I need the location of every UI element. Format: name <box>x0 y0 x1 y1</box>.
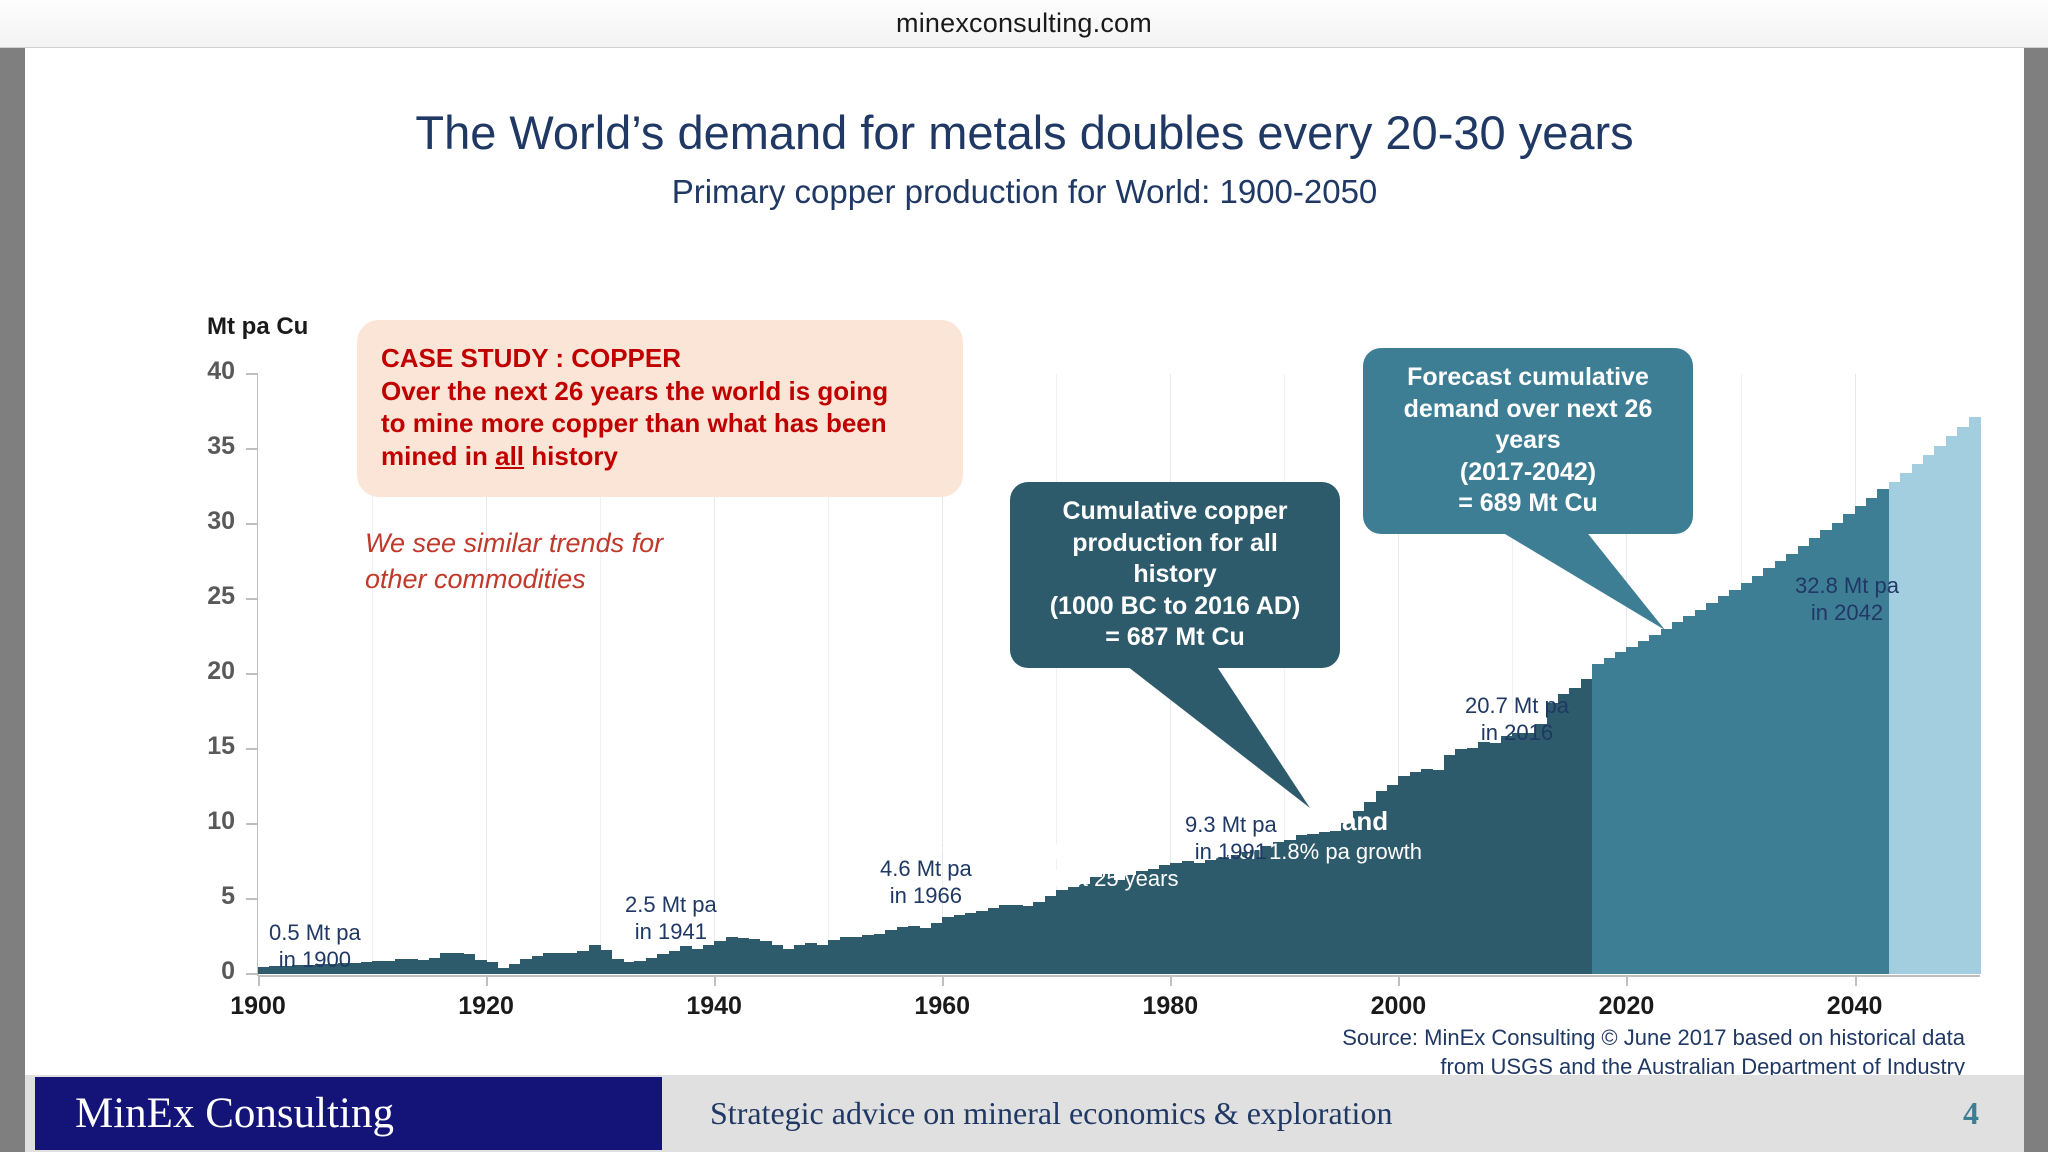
page-title: The World’s demand for metals doubles ev… <box>25 105 2024 160</box>
bar <box>452 953 464 974</box>
bar <box>703 945 715 974</box>
y-tick-mark <box>246 898 258 900</box>
y-tick-label: 35 <box>165 432 235 461</box>
source-line1: Source: MinEx Consulting © June 2017 bas… <box>1015 1023 1965 1052</box>
bar <box>1216 857 1228 974</box>
y-tick-mark <box>246 598 258 600</box>
bar <box>418 960 430 974</box>
case-study-line3-after: history <box>524 441 618 471</box>
history-bubble-line3: (1000 BC to 2016 AD) <box>1028 591 1322 623</box>
bar <box>543 953 555 974</box>
bar <box>486 962 498 974</box>
bar <box>862 935 874 974</box>
case-study-line2: to mine more copper than what has been <box>381 407 939 440</box>
slide-canvas: The World’s demand for metals doubles ev… <box>25 48 2024 1152</box>
bar <box>1433 770 1445 974</box>
bar <box>817 945 829 974</box>
x-tick-mark <box>258 975 260 986</box>
case-study-callout: CASE STUDY : COPPER Over the next 26 yea… <box>357 320 963 497</box>
bar <box>475 960 487 974</box>
bar <box>691 949 703 974</box>
y-tick-label: 30 <box>165 507 235 536</box>
x-tick-label: 1940 <box>644 992 784 1021</box>
case-study-line3: mined in all history <box>381 440 939 473</box>
history-bubble: Cumulative copper production for all his… <box>1010 482 1340 668</box>
page-number: 4 <box>1963 1075 1979 1152</box>
bar <box>1227 855 1239 974</box>
x-tick-label: 2020 <box>1556 992 1696 1021</box>
y-tick-mark <box>246 448 258 450</box>
x-tick-mark <box>486 975 488 986</box>
bar <box>1877 489 1889 974</box>
y-tick-label: 10 <box>165 807 235 836</box>
bar <box>577 951 589 974</box>
x-tick-mark <box>1398 975 1400 986</box>
bar <box>1763 568 1775 974</box>
bar <box>623 962 635 974</box>
left-gutter <box>0 48 25 1152</box>
bar <box>1604 658 1616 974</box>
bar <box>395 959 407 974</box>
y-tick-label: 15 <box>165 732 235 761</box>
case-study-heading: CASE STUDY : COPPER <box>381 342 939 375</box>
point-annotation-year: in 1966 <box>880 883 972 910</box>
x-tick-mark <box>1170 975 1172 986</box>
x-tick-label: 1960 <box>872 992 1012 1021</box>
bar <box>657 954 669 974</box>
bar <box>406 959 418 974</box>
y-tick-mark <box>246 373 258 375</box>
bar <box>1581 679 1593 975</box>
bar <box>783 949 795 974</box>
bar <box>555 953 567 974</box>
point-annotation-n1900: 0.5 Mt pain 1900 <box>269 920 361 974</box>
similar-trends-line1: We see similar trends for <box>365 526 663 562</box>
case-study-line1: Over the next 26 years the world is goin… <box>381 375 939 408</box>
bar <box>1501 736 1513 975</box>
x-tick-label: 1980 <box>1100 992 1240 1021</box>
bar <box>646 958 658 974</box>
bar <box>1695 610 1707 974</box>
y-axis-title: Mt pa Cu <box>207 313 308 341</box>
bar <box>897 927 909 974</box>
bar <box>726 937 738 975</box>
y-tick-mark <box>246 823 258 825</box>
bar <box>1741 583 1753 974</box>
bar <box>1239 852 1251 974</box>
bar <box>1193 863 1205 974</box>
bar <box>1683 616 1695 974</box>
bar <box>805 943 817 975</box>
similar-trends-line2: other commodities <box>365 562 663 598</box>
bar <box>988 908 1000 974</box>
bar <box>1649 635 1661 974</box>
bar <box>1969 417 1981 974</box>
x-tick-mark <box>1855 975 1857 986</box>
forecast-bubble-line3: (2017-2042) <box>1381 457 1675 489</box>
bar <box>1900 473 1912 974</box>
y-tick-mark <box>246 973 258 975</box>
point-annotation-value: 4.6 Mt pa <box>880 856 972 883</box>
y-tick-mark <box>246 748 258 750</box>
bar <box>1250 850 1262 975</box>
y-tick-label: 40 <box>165 357 235 386</box>
bar <box>1923 455 1935 974</box>
x-tick-label: 1900 <box>188 992 328 1021</box>
similar-trends-note: We see similar trends for other commodit… <box>365 526 663 598</box>
y-tick-label: 25 <box>165 582 235 611</box>
bar <box>383 961 395 974</box>
point-annotation-year: in 1941 <box>625 919 717 946</box>
point-annotation-n1941: 2.5 Mt pain 1941 <box>625 892 717 946</box>
y-tick-label: 0 <box>165 957 235 986</box>
bar <box>771 945 783 974</box>
bar <box>372 961 384 974</box>
bar <box>1182 861 1194 974</box>
x-tick-label: 2040 <box>1785 992 1925 1021</box>
bar <box>1022 906 1034 974</box>
bar <box>931 923 943 974</box>
x-tick-mark <box>714 975 716 986</box>
slide-footer: MinEx Consulting Strategic advice on min… <box>25 1075 2024 1152</box>
bar <box>1410 772 1422 975</box>
source-note: Source: MinEx Consulting © June 2017 bas… <box>1015 1023 1965 1081</box>
bar <box>1512 733 1524 975</box>
bar <box>1752 576 1764 974</box>
forecast-bubble: Forecast cumulative demand over next 26 … <box>1363 348 1693 534</box>
bar <box>1045 896 1057 974</box>
bar <box>532 956 544 974</box>
x-tick-label: 2000 <box>1328 992 1468 1021</box>
x-tick-label: 1920 <box>416 992 556 1021</box>
bar <box>1626 647 1638 974</box>
x-axis-line <box>258 975 1980 977</box>
point-annotation-year: in 1900 <box>269 947 361 974</box>
bar <box>589 945 601 974</box>
history-bubble-line1: Cumulative copper <box>1028 496 1322 528</box>
bar <box>1946 436 1958 974</box>
bar <box>1056 890 1068 974</box>
point-annotation-n2042: 32.8 Mt pain 2042 <box>1795 573 1899 627</box>
case-study-line3-before: mined in <box>381 441 495 471</box>
right-gutter <box>2024 48 2048 1152</box>
y-tick-mark <box>246 673 258 675</box>
bar <box>1569 688 1581 975</box>
bar <box>680 946 692 974</box>
x-tick-mark <box>942 975 944 986</box>
bar <box>463 954 475 974</box>
site-url-label: minexconsulting.com <box>896 8 1152 39</box>
bar <box>737 938 749 974</box>
bar <box>1615 652 1627 974</box>
bar <box>1079 884 1091 974</box>
minex-logo-text: MinEx Consulting <box>75 1089 394 1138</box>
point-annotation-year: in 2016 <box>1465 720 1569 747</box>
bar <box>1934 446 1946 974</box>
bar <box>794 945 806 974</box>
bar <box>1421 769 1433 975</box>
bar <box>612 959 624 974</box>
footer-tagline: Strategic advice on mineral economics & … <box>710 1075 1392 1152</box>
bar <box>1661 629 1673 974</box>
bar <box>1444 755 1456 974</box>
bar <box>714 941 726 974</box>
bar <box>1672 622 1684 974</box>
bar <box>908 926 920 974</box>
browser-top-bar: minexconsulting.com <box>0 0 2048 48</box>
bar <box>919 928 931 974</box>
point-annotation-value: 0.5 Mt pa <box>269 920 361 947</box>
bar <box>566 953 578 974</box>
history-bubble-line4: = 687 Mt Cu <box>1028 622 1322 654</box>
bar <box>1478 742 1490 975</box>
bar <box>748 939 760 974</box>
forecast-bubble-line1: Forecast cumulative <box>1381 362 1675 394</box>
bar <box>429 958 441 974</box>
bar <box>1706 603 1718 974</box>
bar <box>885 930 897 974</box>
y-tick-label: 20 <box>165 657 235 686</box>
history-bubble-line2: production for all history <box>1028 528 1322 591</box>
bar <box>634 961 646 975</box>
bar <box>851 937 863 975</box>
bar <box>1205 860 1217 974</box>
y-tick-mark <box>246 523 258 525</box>
bar <box>1455 749 1467 974</box>
bar <box>760 941 772 974</box>
bar <box>1011 905 1023 974</box>
forecast-bubble-line2: demand over next 26 years <box>1381 394 1675 457</box>
bar <box>440 953 452 974</box>
bar <box>1592 664 1604 975</box>
x-tick-mark <box>1626 975 1628 986</box>
point-annotation-value: 20.7 Mt pa <box>1465 693 1569 720</box>
bar <box>509 964 521 975</box>
point-annotation-year: in 2042 <box>1795 600 1899 627</box>
bar <box>1957 427 1969 975</box>
bar <box>669 951 681 974</box>
bar <box>942 917 954 974</box>
y-tick-label: 5 <box>165 882 235 911</box>
bar <box>1729 590 1741 974</box>
point-annotation-value: 32.8 Mt pa <box>1795 573 1899 600</box>
bar <box>1912 464 1924 974</box>
bar <box>520 959 532 974</box>
minex-logo: MinEx Consulting <box>35 1077 662 1150</box>
point-annotation-value: 2.5 Mt pa <box>625 892 717 919</box>
bar <box>954 915 966 974</box>
bar <box>497 968 509 974</box>
point-annotation-n1966: 4.6 Mt pain 1966 <box>880 856 972 910</box>
bar <box>1535 724 1547 975</box>
page-subtitle: Primary copper production for World: 190… <box>25 173 2024 211</box>
bar <box>1113 880 1125 974</box>
bar <box>1638 641 1650 974</box>
bar <box>976 911 988 974</box>
bar <box>1718 596 1730 974</box>
bar <box>1775 561 1787 974</box>
bar <box>999 905 1011 974</box>
bar <box>965 913 977 974</box>
bar <box>1889 482 1901 974</box>
bar <box>600 950 612 974</box>
bar <box>1490 743 1502 974</box>
point-annotation-n1991: 9.3 Mt pain 1991 <box>1185 812 1277 866</box>
bar <box>1524 733 1536 975</box>
bar <box>828 940 840 974</box>
bar <box>361 962 373 974</box>
point-annotation-year: in 1991 <box>1185 839 1277 866</box>
bar <box>874 934 886 974</box>
bar <box>840 937 852 974</box>
point-annotation-n2016: 20.7 Mt pain 2016 <box>1465 693 1569 747</box>
case-study-line3-underlined: all <box>495 441 524 471</box>
bar <box>1866 498 1878 974</box>
bar <box>1033 902 1045 974</box>
forecast-bubble-line4: = 689 Mt Cu <box>1381 488 1675 520</box>
bar <box>1467 748 1479 975</box>
bar <box>1068 887 1080 974</box>
